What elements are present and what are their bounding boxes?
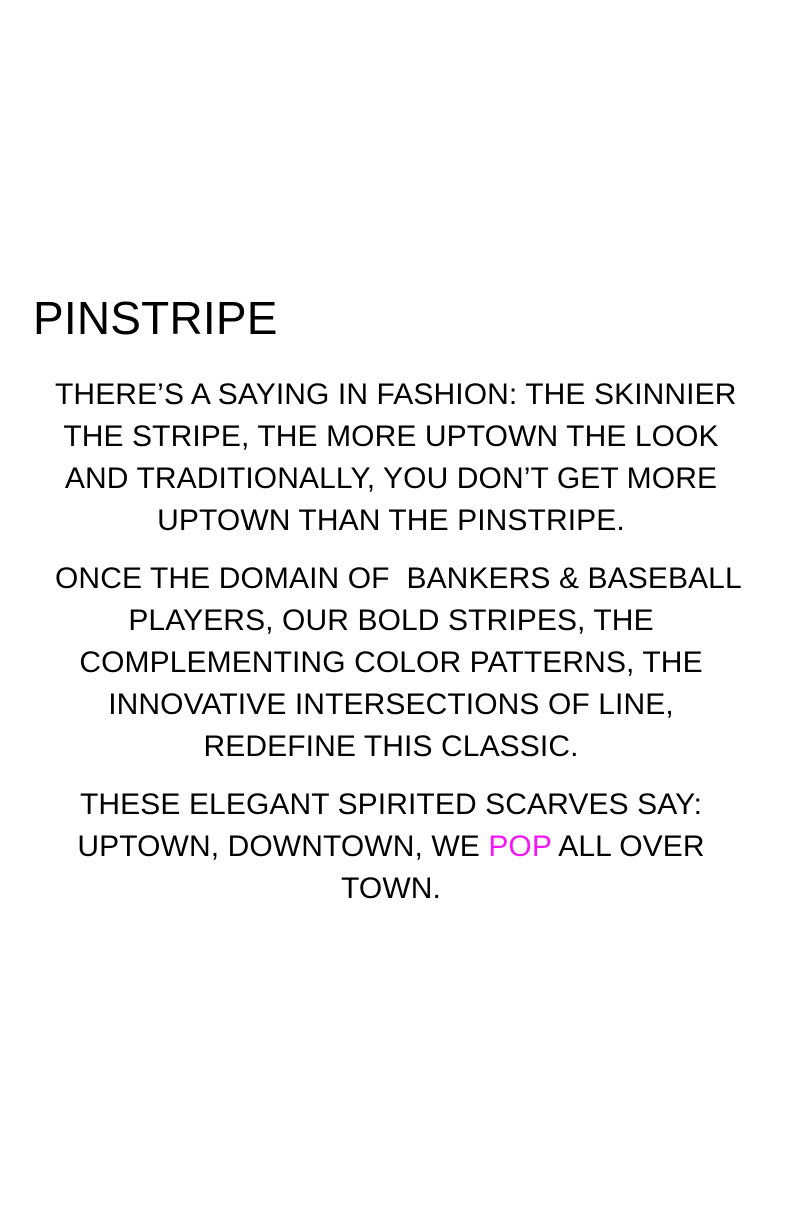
- tagline-prefix: UPTOWN, DOWNTOWN, WE: [77, 830, 488, 863]
- paragraph-line: TOWN.: [55, 868, 727, 910]
- paragraph-intro: THERE’S A SAYING IN FASHION: THE SKINNIE…: [33, 374, 749, 542]
- content-column: PINSTRIPE THERE’S A SAYING IN FASHION: T…: [33, 292, 749, 910]
- paragraph-line: REDEFINE THIS CLASSIC.: [55, 726, 727, 768]
- page-root: PINSTRIPE THERE’S A SAYING IN FASHION: T…: [0, 0, 800, 1227]
- paragraph-line: THERE’S A SAYING IN FASHION: THE SKINNIE…: [55, 374, 727, 416]
- body-copy: THERE’S A SAYING IN FASHION: THE SKINNIE…: [33, 374, 749, 910]
- paragraph-tagline: THESE ELEGANT SPIRITED SCARVES SAY: UPTO…: [33, 784, 749, 910]
- paragraph-line-with-highlight: UPTOWN, DOWNTOWN, WE POP ALL OVER: [55, 826, 727, 868]
- paragraph-line: THE STRIPE, THE MORE UPTOWN THE LOOK: [55, 416, 727, 458]
- pop-highlight: POP: [488, 830, 551, 863]
- paragraph-line: AND TRADITIONALLY, YOU DON’T GET MORE: [55, 458, 727, 500]
- tagline-suffix: ALL OVER: [551, 830, 704, 863]
- paragraph-line: THESE ELEGANT SPIRITED SCARVES SAY:: [55, 784, 727, 826]
- paragraph-line: COMPLEMENTING COLOR PATTERNS, THE: [55, 642, 727, 684]
- paragraph-line: ONCE THE DOMAIN OF BANKERS & BASEBALL: [55, 558, 727, 600]
- page-title: PINSTRIPE: [33, 292, 749, 344]
- paragraph-line: PLAYERS, OUR BOLD STRIPES, THE: [55, 600, 727, 642]
- paragraph-line: INNOVATIVE INTERSECTIONS OF LINE,: [55, 684, 727, 726]
- paragraph-heritage: ONCE THE DOMAIN OF BANKERS & BASEBALL PL…: [33, 558, 749, 768]
- paragraph-line: UPTOWN THAN THE PINSTRIPE.: [55, 500, 727, 542]
